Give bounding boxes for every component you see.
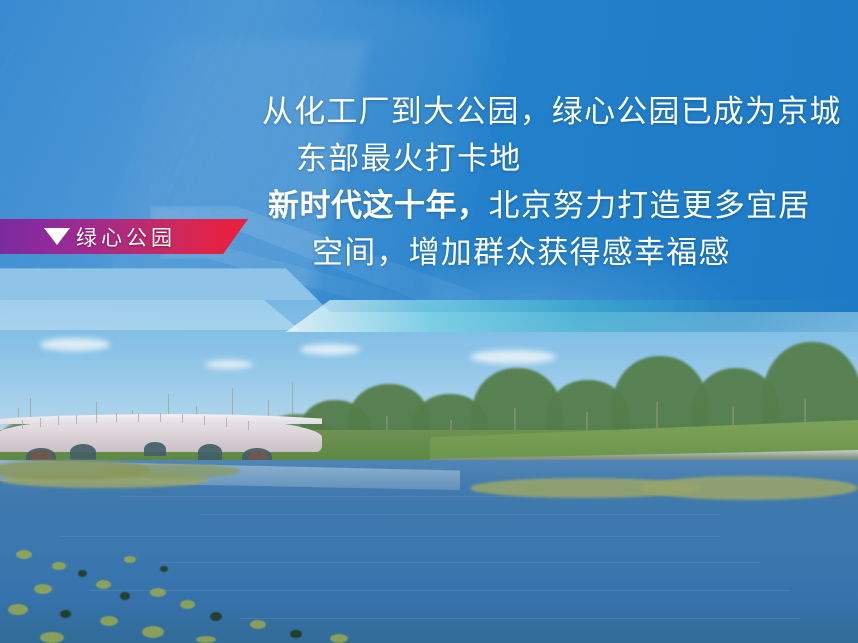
headline-line-3-emphasis: 新时代这十年， [268, 188, 489, 223]
headline-line-3-tail: 北京努力打造更多宜居 [489, 188, 811, 223]
headline-line-3: 新时代这十年，北京努力打造更多宜居 [250, 182, 858, 229]
triangle-down-icon [44, 228, 70, 245]
teal-accent-strip-left [0, 300, 300, 330]
teal-accent-strip [286, 300, 858, 332]
headline-line-1: 从化工厂到大公园，绿心公园已成为京城 [250, 88, 858, 135]
photo-color-grade [0, 300, 858, 643]
headline-line-4: 空间，增加群众获得感幸福感 [250, 229, 858, 276]
headline-line-2: 东部最火打卡地 [250, 135, 858, 182]
section-tag-label: 绿心公园 [76, 222, 176, 252]
headline-block: 从化工厂到大公园，绿心公园已成为京城 东部最火打卡地 新时代这十年，北京努力打造… [250, 88, 858, 276]
poster-canvas: 从化工厂到大公园，绿心公园已成为京城 东部最火打卡地 新时代这十年，北京努力打造… [0, 0, 858, 643]
park-photo [0, 300, 858, 643]
section-tag-banner[interactable]: 绿心公园 [0, 219, 248, 254]
